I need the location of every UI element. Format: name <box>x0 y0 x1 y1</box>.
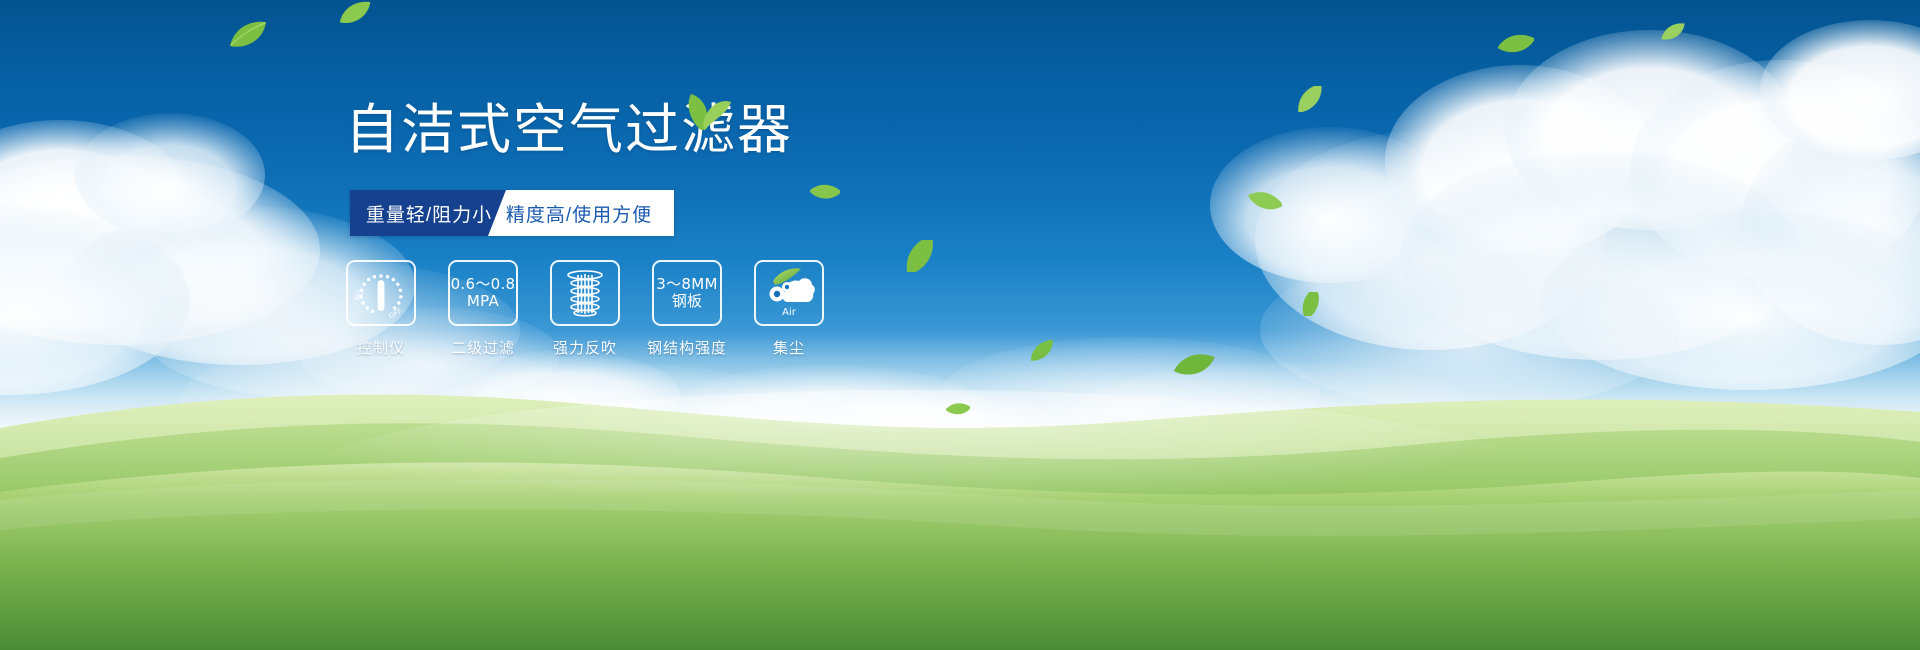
feature-icon-box: NO OFF <box>346 260 416 326</box>
steel-plate-text-icon: 3〜8MM 钢板 <box>656 276 717 311</box>
feature-item-steel-strength[interactable]: 3〜8MM 钢板 钢结构强度 <box>651 260 723 358</box>
svg-text:OFF: OFF <box>388 307 404 319</box>
feature-tag-group: 重量轻/阻力小 精度高/使用方便 <box>350 190 674 236</box>
feature-icon-box: Air <box>754 260 824 326</box>
svg-text:NO: NO <box>353 288 365 302</box>
dust-cloud-icon: Air <box>761 267 817 319</box>
feature-box-line2: MPA <box>451 293 516 310</box>
feature-icon-box: 3〜8MM 钢板 <box>652 260 722 326</box>
control-dial-icon: NO OFF <box>353 267 409 319</box>
banner-content: 自洁式空气过滤器 重量轻/阻力小 精度高/使用方便 <box>0 0 1920 650</box>
feature-icon-box: 0.6〜0.8 MPA <box>448 260 518 326</box>
feature-label: 二级过滤 <box>451 337 515 358</box>
cloud-air-label: Air <box>782 307 797 318</box>
filter-cartridge-icon <box>560 268 610 318</box>
feature-item-controller[interactable]: NO OFF 控制仪 <box>345 260 417 358</box>
title-leaf-pair-icon <box>675 92 731 132</box>
feature-label: 钢结构强度 <box>647 337 727 358</box>
feature-icon-box <box>550 260 620 326</box>
feature-box-line1: 0.6〜0.8 <box>451 276 516 293</box>
feature-icon-row: NO OFF 控制仪 0.6〜0.8 MPA 二级过滤 <box>345 260 825 358</box>
feature-box-line1: 3〜8MM <box>656 276 717 293</box>
promo-banner: 自洁式空气过滤器 重量轻/阻力小 精度高/使用方便 <box>0 0 1920 650</box>
feature-box-line2: 钢板 <box>656 293 717 310</box>
feature-item-dust-collection[interactable]: Air 集尘 <box>753 260 825 358</box>
feature-label: 强力反吹 <box>553 337 617 358</box>
feature-item-filtration[interactable]: 0.6〜0.8 MPA 二级过滤 <box>447 260 519 358</box>
feature-label: 控制仪 <box>357 337 405 358</box>
feature-label: 集尘 <box>773 337 805 358</box>
feature-tag-secondary[interactable]: 精度高/使用方便 <box>488 190 674 236</box>
feature-tag-primary[interactable]: 重量轻/阻力小 <box>350 190 506 236</box>
feature-item-backblow[interactable]: 强力反吹 <box>549 260 621 358</box>
hero-text-block: 自洁式空气过滤器 重量轻/阻力小 精度高/使用方便 <box>345 100 865 159</box>
pressure-text-icon: 0.6〜0.8 MPA <box>451 276 516 311</box>
